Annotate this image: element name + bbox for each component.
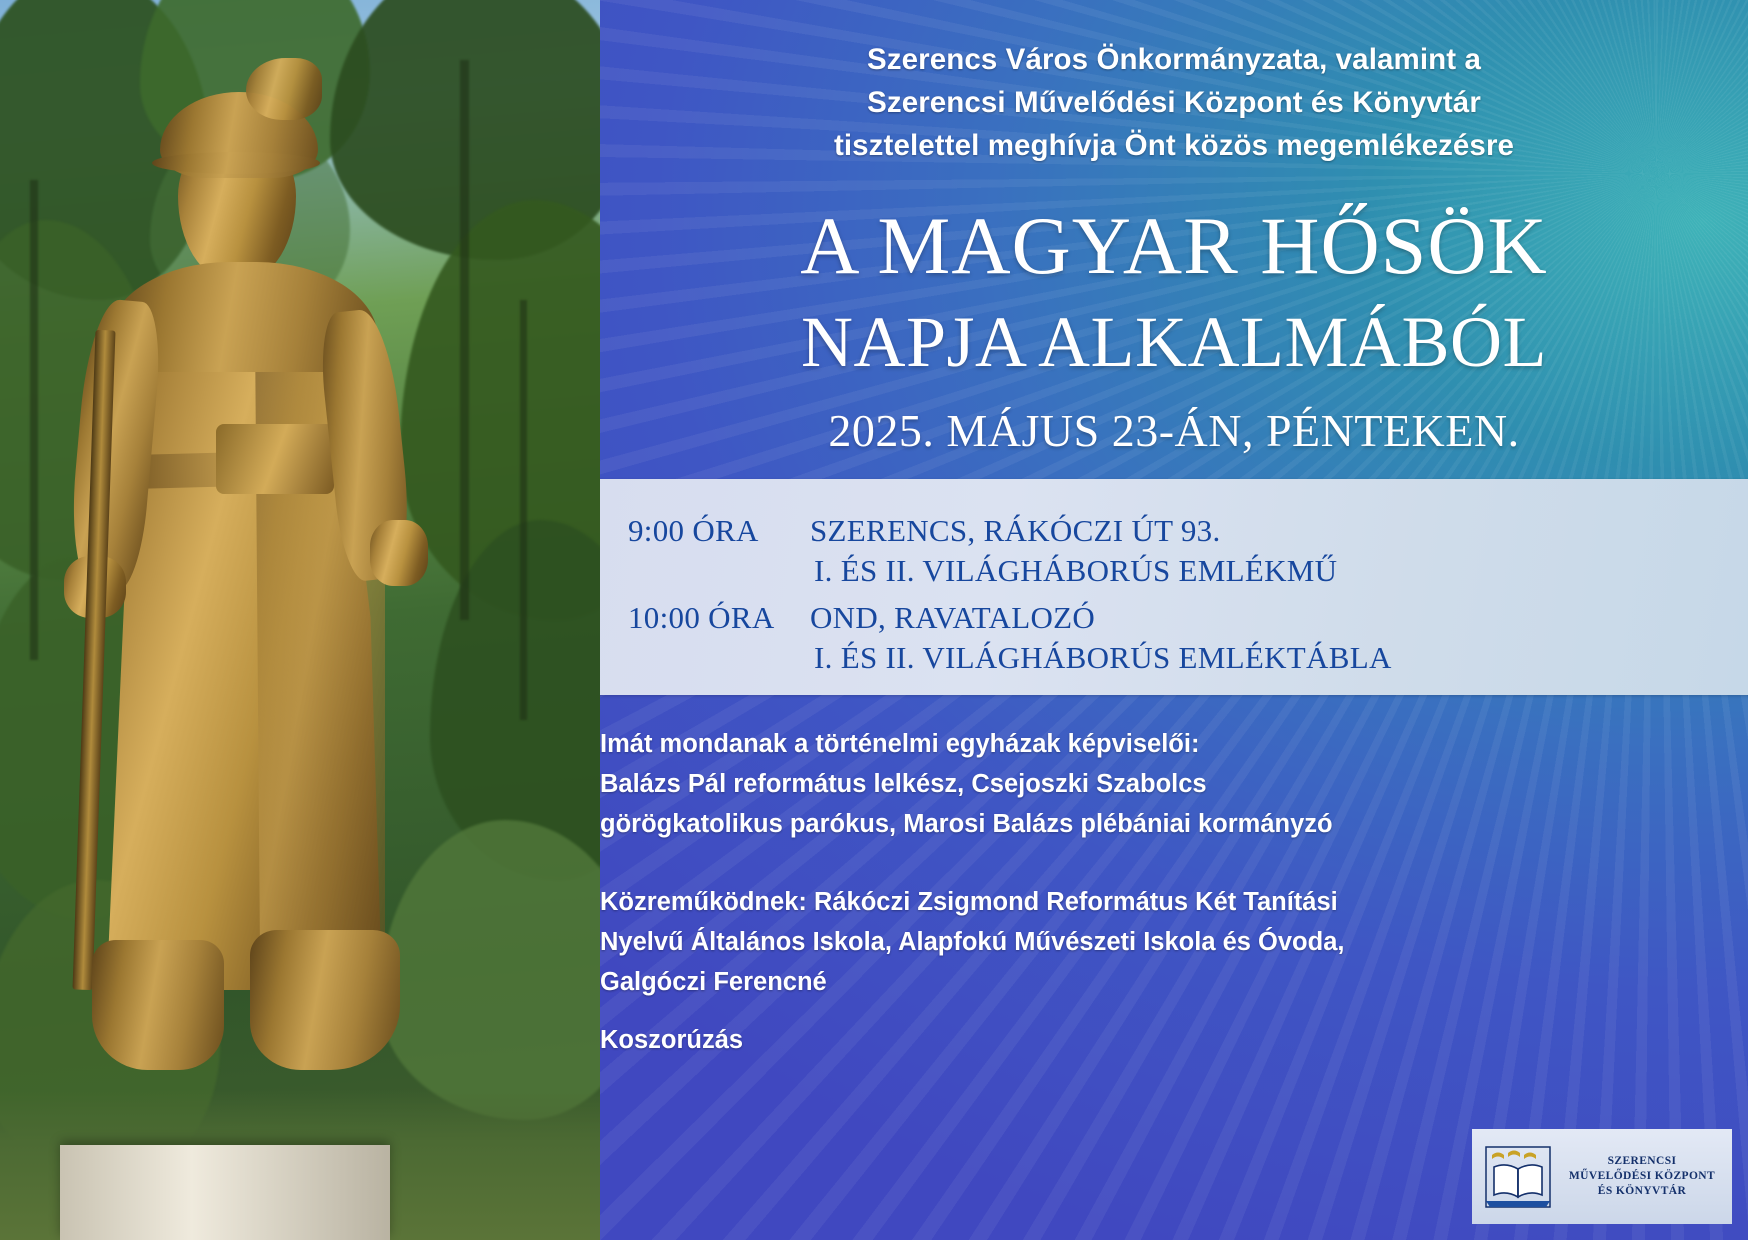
title-line-1: A MAGYAR HŐSÖK — [600, 198, 1748, 294]
participants-line-1: Közreműködnek: Rákóczi Zsigmond Reformát… — [600, 882, 1344, 922]
institution-logo: SZERENCSI MŰVELŐDÉSI KÖZPONT ÉS KÖNYVTÁR — [1472, 1129, 1732, 1224]
logo-line-1: SZERENCSI — [1562, 1154, 1722, 1169]
organizer-header: Szerencs Város Önkormányzata, valamint a… — [600, 38, 1748, 167]
logo-line-2: MŰVELŐDÉSI KÖZPONT — [1562, 1169, 1722, 1184]
statue-right-hand — [370, 520, 428, 586]
page-title: A MAGYAR HŐSÖK NAPJA ALKALMÁBÓL — [600, 198, 1748, 390]
schedule-detail: I. ÉS II. VILÁGHÁBORÚS EMLÉKTÁBLA — [628, 638, 1392, 678]
tree-trunk — [460, 60, 469, 620]
closing-line-1: Koszorúzás — [600, 1020, 743, 1060]
participants-line-2: Nyelvű Általános Iskola, Alapfokú Művész… — [600, 922, 1344, 962]
organizer-line-2: Szerencsi Művelődési Központ és Könyvtár — [600, 81, 1748, 124]
statue-right-boot — [250, 930, 400, 1070]
event-date: 2025. MÁJUS 23-ÁN, PÉNTEKEN. — [600, 403, 1748, 459]
paragraph-closing: Koszorúzás — [600, 1020, 743, 1060]
schedule-place: OND, RAVATALOZÓ — [810, 600, 1095, 635]
schedule-item: 9:00 ÓRASZERENCS, RÁKÓCZI ÚT 93. I. ÉS I… — [628, 511, 1337, 591]
statue-pedestal — [60, 1145, 390, 1240]
prayer-line-3: görögkatolikus parókus, Marosi Balázs pl… — [600, 804, 1333, 844]
schedule-place: SZERENCS, RÁKÓCZI ÚT 93. — [810, 513, 1221, 548]
statue-photo — [0, 0, 600, 1240]
paragraph-participants: Közreműködnek: Rákóczi Zsigmond Reformát… — [600, 882, 1344, 1002]
open-book-icon — [1482, 1141, 1554, 1213]
statue-left-boot — [92, 940, 224, 1070]
statue-helmet-plume — [246, 58, 322, 120]
prayer-line-1: Imát mondanak a történelmi egyházak képv… — [600, 724, 1333, 764]
logo-text: SZERENCSI MŰVELŐDÉSI KÖZPONT ÉS KÖNYVTÁR — [1562, 1154, 1722, 1199]
schedule-time: 9:00 ÓRA — [628, 511, 810, 551]
schedule-time: 10:00 ÓRA — [628, 598, 810, 638]
poster: Szerencs Város Önkormányzata, valamint a… — [0, 0, 1748, 1240]
schedule-item: 10:00 ÓRAOND, RAVATALOZÓ I. ÉS II. VILÁG… — [628, 598, 1392, 678]
statue-ammo-pouch — [216, 424, 334, 494]
tree-trunk — [30, 180, 38, 660]
prayer-line-2: Balázs Pál református lelkész, Csejoszki… — [600, 764, 1333, 804]
schedule-box: 9:00 ÓRASZERENCS, RÁKÓCZI ÚT 93. I. ÉS I… — [600, 479, 1748, 695]
organizer-line-1: Szerencs Város Önkormányzata, valamint a — [600, 38, 1748, 81]
participants-line-3: Galgóczi Ferencné — [600, 962, 1344, 1002]
organizer-line-3: tisztelettel meghívja Önt közös megemlék… — [600, 124, 1748, 167]
title-line-2: NAPJA ALKALMÁBÓL — [600, 294, 1748, 390]
schedule-detail: I. ÉS II. VILÁGHÁBORÚS EMLÉKMŰ — [628, 551, 1337, 591]
logo-line-3: ÉS KÖNYVTÁR — [1562, 1184, 1722, 1199]
statue-helmet-brim — [152, 152, 320, 174]
tree-trunk — [520, 300, 527, 720]
paragraph-prayer: Imát mondanak a történelmi egyházak képv… — [600, 724, 1333, 844]
content-panel: Szerencs Város Önkormányzata, valamint a… — [600, 0, 1748, 1240]
